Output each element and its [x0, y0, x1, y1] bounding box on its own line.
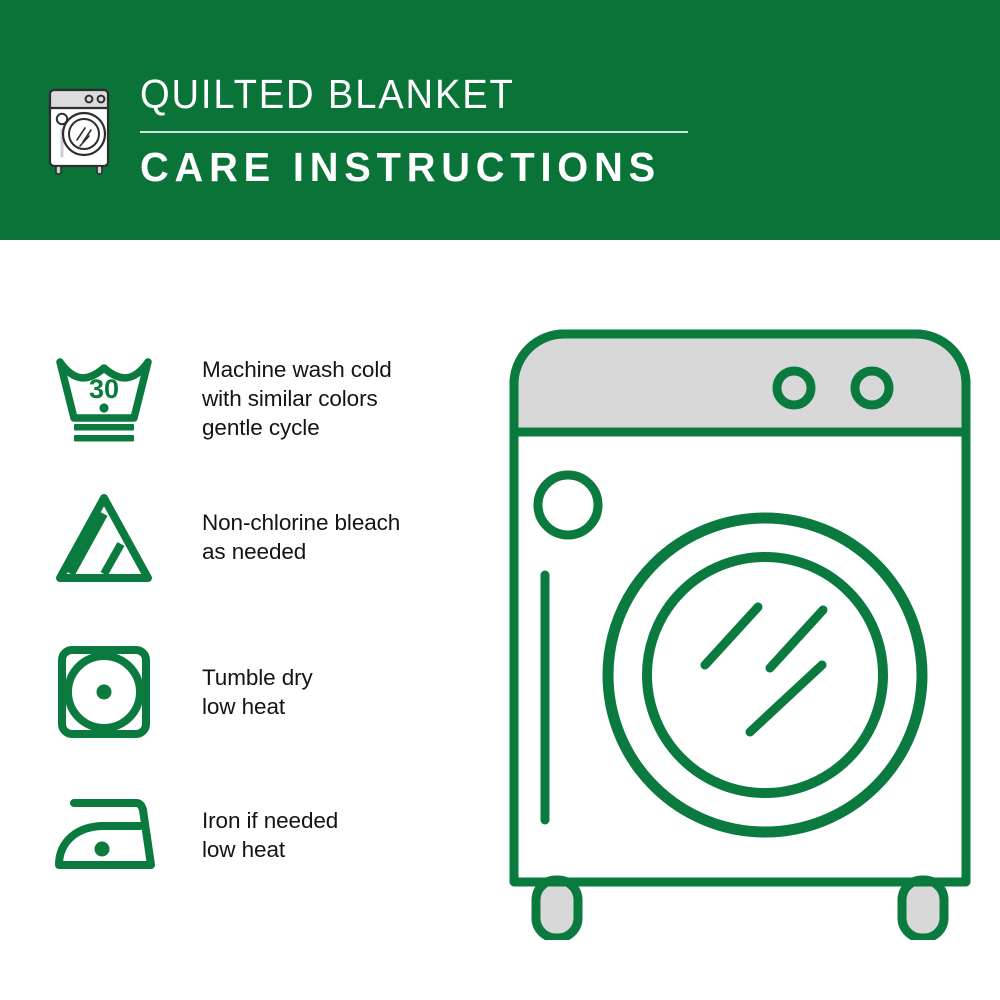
header-content: QUILTED BLANKET CARE INSTRUCTIONS — [44, 68, 688, 190]
page-subtitle: CARE INSTRUCTIONS — [140, 144, 672, 190]
care-item-label: Iron if needed low heat — [202, 806, 338, 864]
header-titles: QUILTED BLANKET CARE INSTRUCTIONS — [140, 68, 688, 190]
page-title: QUILTED BLANKET — [140, 70, 650, 118]
care-item-label: Non-chlorine bleach as needed — [202, 508, 400, 566]
care-item-machine-wash: 30 Machine wash cold with similar colors… — [48, 352, 392, 444]
machine-wash-basin-icon: 30 — [48, 352, 160, 444]
care-item-iron: Iron if needed low heat — [48, 795, 338, 875]
care-item-bleach: Non-chlorine bleach as needed — [48, 490, 400, 584]
svg-text:30: 30 — [89, 374, 119, 404]
washing-machine-icon — [44, 72, 116, 178]
tumble-dry-icon — [48, 644, 160, 740]
care-item-label: Tumble dry low heat — [202, 663, 313, 721]
non-chlorine-bleach-triangle-icon — [48, 490, 160, 584]
leg-right — [902, 880, 944, 938]
header-banner: QUILTED BLANKET CARE INSTRUCTIONS — [0, 0, 1000, 240]
front-load-washing-machine-illustration — [500, 320, 980, 940]
care-item-tumble-dry: Tumble dry low heat — [48, 644, 313, 740]
title-divider — [140, 131, 688, 133]
care-item-label: Machine wash cold with similar colors ge… — [202, 355, 392, 442]
iron-icon — [48, 795, 160, 875]
leg-left — [536, 880, 578, 938]
